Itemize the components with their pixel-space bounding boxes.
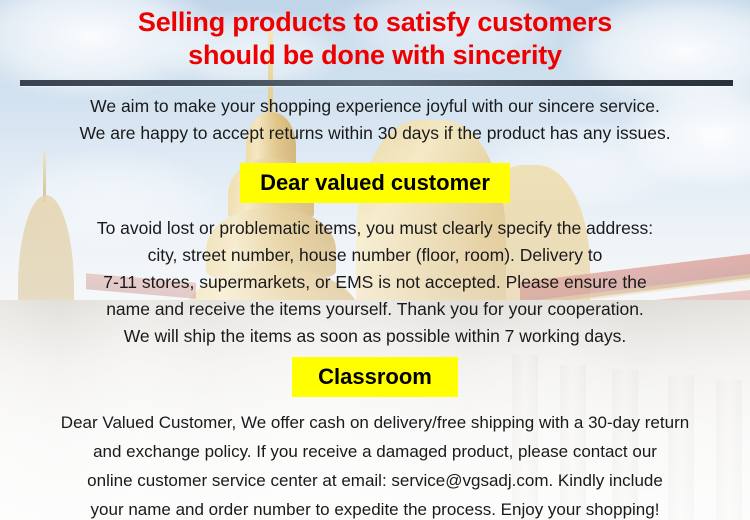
dear-valued-customer-heading: Dear valued customer [0, 163, 750, 203]
promotional-notice-banner: Selling products to satisfy customers sh… [0, 0, 750, 520]
bottom-line-3: online customer service center at email:… [0, 466, 750, 495]
middle-line-5: We will ship the items as soon as possib… [0, 323, 750, 350]
banner-headline: Selling products to satisfy customers sh… [0, 6, 750, 72]
middle-line-1: To avoid lost or problematic items, you … [0, 215, 750, 242]
intro-line-1: We aim to make your shopping experience … [0, 93, 750, 120]
headline-line-2: should be done with sincerity [0, 39, 750, 72]
highlight-label-classroom: Classroom [292, 357, 458, 397]
middle-line-3: 7-11 stores, supermarkets, or EMS is not… [0, 269, 750, 296]
headline-line-1: Selling products to satisfy customers [0, 6, 750, 39]
highlight-label-customer: Dear valued customer [240, 163, 510, 203]
classroom-heading: Classroom [0, 357, 750, 397]
shipping-instructions-paragraph: To avoid lost or problematic items, you … [0, 215, 750, 350]
policy-paragraph: Dear Valued Customer, We offer cash on d… [0, 408, 750, 520]
middle-line-2: city, street number, house number (floor… [0, 242, 750, 269]
banner-content: Selling products to satisfy customers sh… [0, 0, 750, 520]
middle-line-4: name and receive the items yourself. Tha… [0, 296, 750, 323]
bottom-line-1: Dear Valued Customer, We offer cash on d… [0, 408, 750, 437]
intro-line-2: We are happy to accept returns within 30… [0, 120, 750, 147]
intro-paragraph: We aim to make your shopping experience … [0, 93, 750, 147]
bottom-line-2: and exchange policy. If you receive a da… [0, 437, 750, 466]
horizontal-divider [20, 80, 733, 86]
bottom-line-4: your name and order number to expedite t… [0, 495, 750, 520]
